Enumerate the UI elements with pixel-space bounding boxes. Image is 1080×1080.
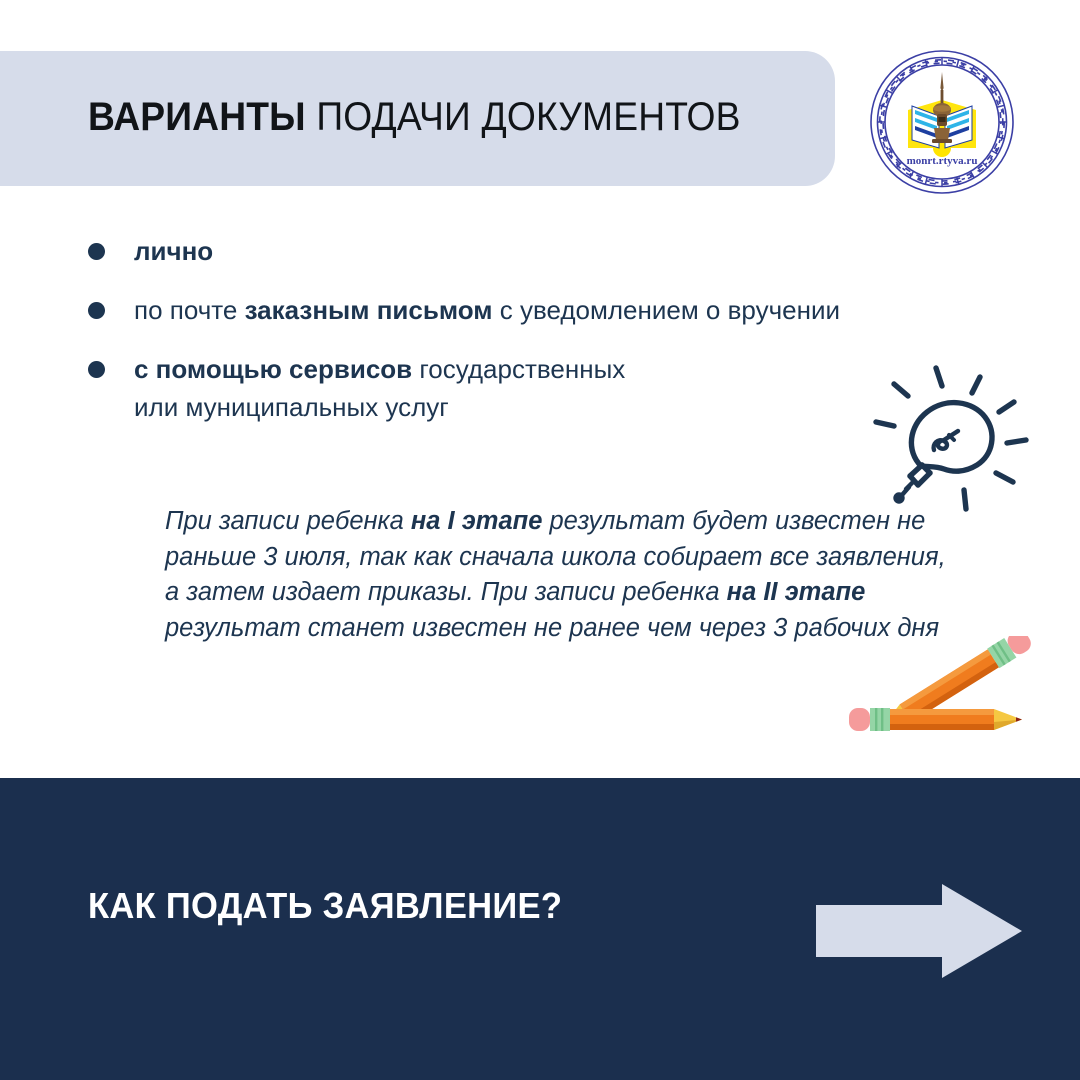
note-stage-2: на II этапе: [727, 578, 866, 606]
note-part-3: результат станет известен не ранее чем ч…: [165, 614, 939, 642]
bullet-dot-icon: [88, 302, 105, 319]
pencils-icon: [848, 636, 1058, 761]
logo-caption: monrt.rtyva.ru: [907, 155, 978, 167]
bullet-dot-icon: [88, 361, 105, 378]
lightbulb-icon: [866, 362, 1038, 512]
page-title-regular: ПОДАЧИ ДОКУМЕНТОВ: [306, 95, 741, 139]
bullet-text-lichno: лично: [134, 236, 213, 266]
bullet-text-pochta-1: по почте: [134, 295, 245, 325]
footer-title: КАК ПОДАТЬ ЗАЯВЛЕНИЕ?: [88, 884, 562, 928]
bullet-text-servisy-1: с помощью сервисов: [134, 354, 412, 384]
bullet-text-servisy-3: или муниципальных услуг: [134, 392, 449, 422]
bullet-text-pochta-2: заказным письмом: [245, 295, 493, 325]
note-stage-1: на I этапе: [411, 507, 543, 535]
poster-canvas: ВАРИАНТЫ ПОДАЧИ ДОКУМЕНТОВ: [0, 0, 1080, 1080]
note-paragraph: При записи ребенка на I этапе результат …: [165, 504, 965, 646]
arrow-right-icon[interactable]: [816, 884, 1022, 978]
list-item: лично: [88, 232, 1018, 270]
ministry-seal-logo: monrt.rtyva.ru: [868, 48, 1016, 196]
bullet-text-servisy-2: государственных: [412, 354, 625, 384]
note-part-1: При записи ребенка: [165, 507, 411, 535]
bullet-text-pochta-3: с уведомлением о вручении: [493, 295, 841, 325]
list-item: по почте заказным письмом с уведомлением…: [88, 291, 1018, 329]
bullet-dot-icon: [88, 243, 105, 260]
page-title-bold: ВАРИАНТЫ: [88, 95, 306, 139]
page-title: ВАРИАНТЫ ПОДАЧИ ДОКУМЕНТОВ: [88, 93, 767, 141]
